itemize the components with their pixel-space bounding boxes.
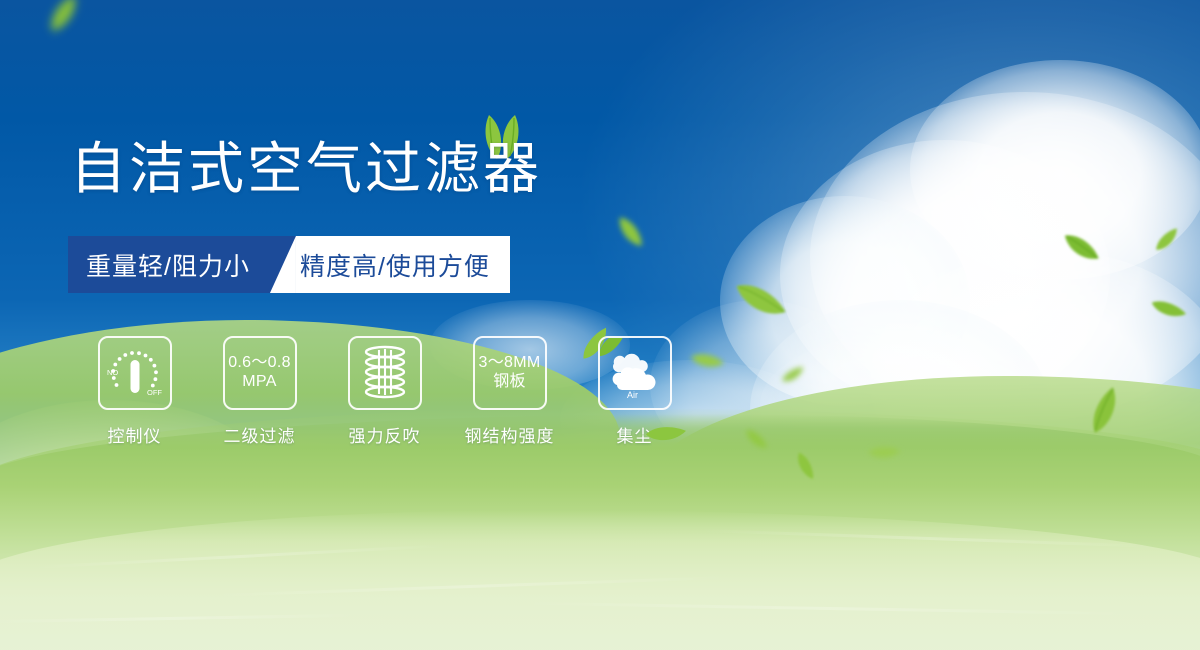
control-dial-gauge-icon: NO OFF [104,344,166,402]
feature-icon-box [348,336,422,410]
meadow-foreground [0,510,1200,650]
feature-item-control-dial[interactable]: NO OFF 控制仪 [72,336,197,447]
subtitle-badge-primary: 重量轻/阻力小 [68,236,270,293]
pressure-text-icon: 0.6～0.8 MPA [228,354,291,392]
subtitle-badge-group: 重量轻/阻力小 精度高/使用方便 [68,236,510,293]
feature-item-blowback[interactable]: 强力反吹 [322,336,447,447]
feature-icon-box: Air [598,336,672,410]
svg-text:NO: NO [107,368,118,377]
feature-item-pressure[interactable]: 0.6～0.8 MPA 二级过滤 [197,336,322,447]
feature-icon-box: 0.6～0.8 MPA [223,336,297,410]
feature-item-steel-plate[interactable]: 3～8MM 钢板 钢结构强度 [447,336,572,447]
page-title: 自洁式空气过滤器 [70,141,542,197]
feature-label: 强力反吹 [349,422,421,447]
svg-text:OFF: OFF [147,388,162,397]
filter-cartridge-coil-icon [357,344,413,402]
feature-label: 控制仪 [108,422,162,447]
subtitle-badge-secondary: 精度高/使用方便 [296,236,510,293]
feature-icon-box: 3～8MM 钢板 [473,336,547,410]
feature-label: 二级过滤 [224,422,296,447]
feature-box-line2: 钢板 [479,373,541,392]
steel-plate-text-icon: 3～8MM 钢板 [479,354,541,392]
feature-box-line2: Air [627,390,638,400]
feature-item-dust-collection[interactable]: Air 集尘 [572,336,697,447]
feature-icon-row: NO OFF 控制仪 0.6～0.8 MPA 二级过滤 [72,336,697,447]
feature-box-line1: 0.6～0.8 [228,354,291,371]
subtitle-wedge-divider [270,236,296,293]
product-banner: 自洁式空气过滤器 重量轻/阻力小 精度高/使用方便 [0,0,1200,650]
feature-label: 集尘 [617,422,653,447]
feature-label: 钢结构强度 [465,422,555,447]
feature-box-line2: MPA [228,373,291,392]
feature-box-line1: 3～8MM [479,354,541,371]
feature-icon-box: NO OFF [98,336,172,410]
air-cloud-icon: Air [605,346,665,400]
